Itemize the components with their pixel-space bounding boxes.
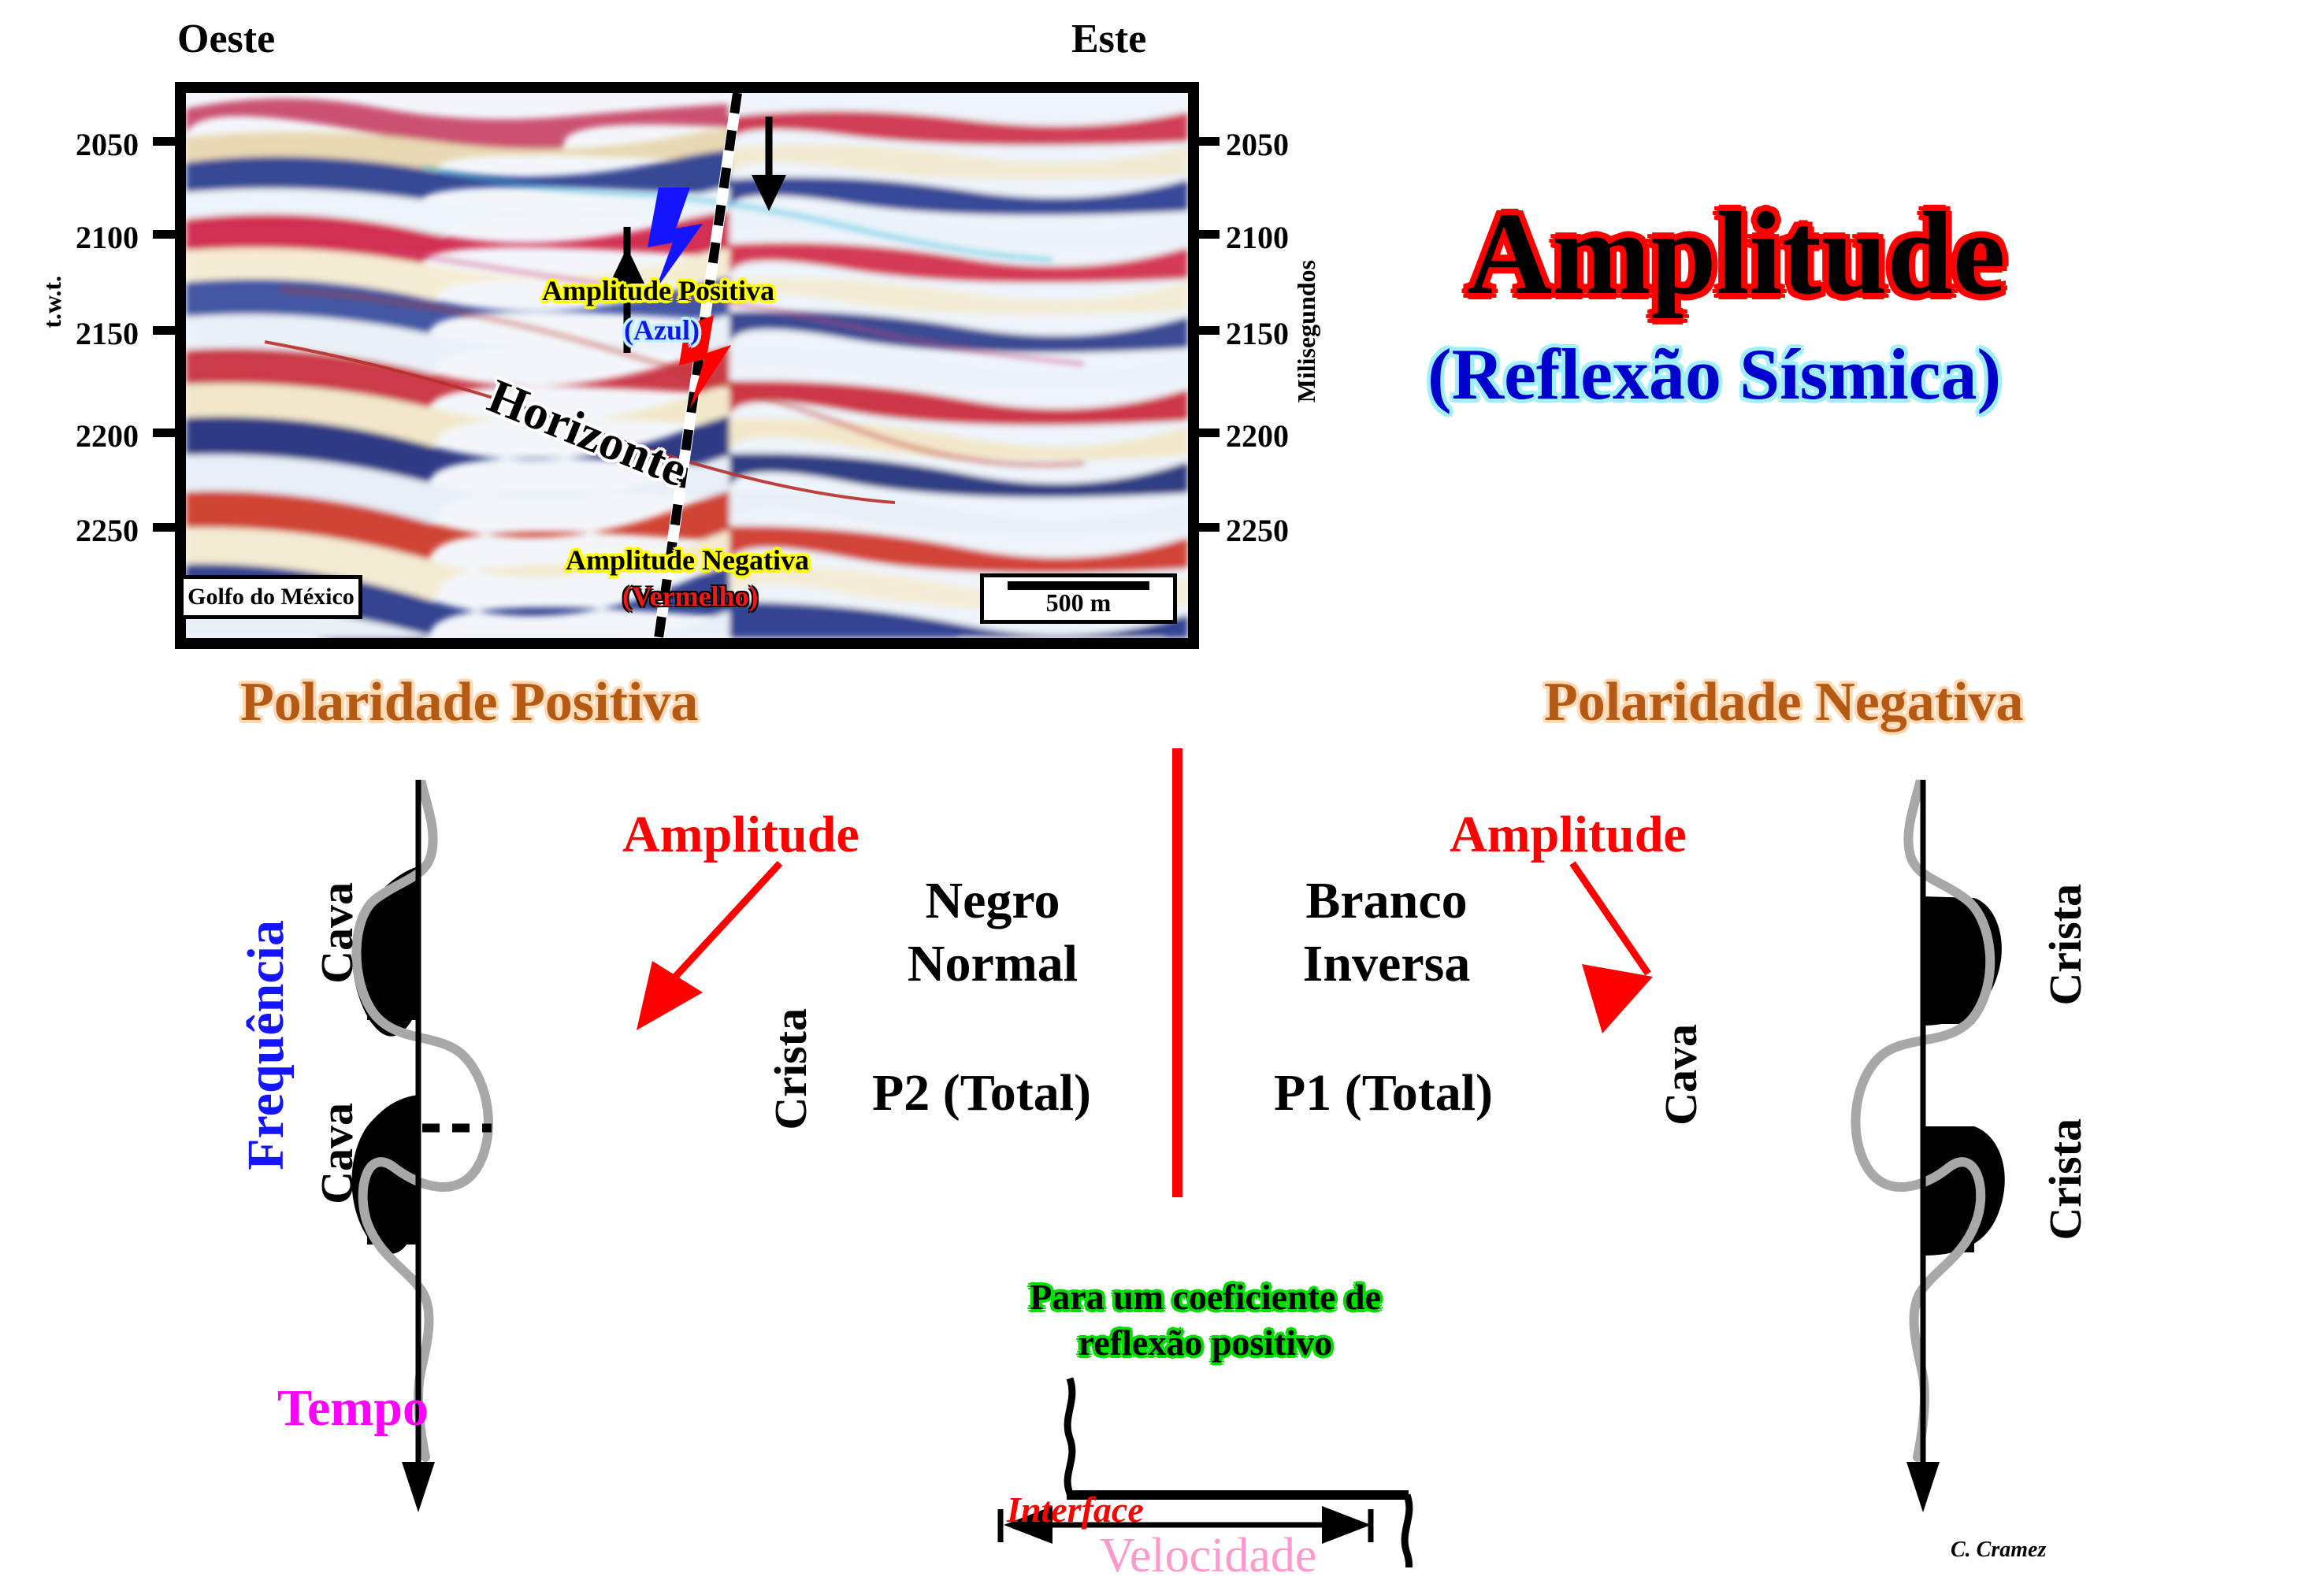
location-box: Golfo do México <box>180 575 362 619</box>
amplitude-arrow-left <box>567 851 804 1055</box>
tick-left-3: 2200 <box>76 417 139 454</box>
text-normal: Normal <box>867 934 1119 994</box>
annotation-positive-amplitude: Amplitude Positiva <box>542 274 774 307</box>
tick-right-4: 2250 <box>1226 512 1289 549</box>
note-line-2: reflexão positivo <box>953 1320 1457 1366</box>
text-negro: Negro <box>867 871 1119 931</box>
direction-label-east: Este <box>1071 16 1146 62</box>
tick-left-4: 2250 <box>76 512 139 549</box>
tick-right-2: 2150 <box>1226 315 1289 352</box>
label-velocity: Velocidade <box>1100 1528 1316 1584</box>
tick-left-1: 2100 <box>76 219 139 256</box>
label-trough-bottom-left: Cava <box>310 1103 363 1204</box>
panel-divider <box>1172 748 1182 1197</box>
page-title: Amplitude <box>1467 186 2005 321</box>
text-p2-total: P2 (Total) <box>848 1063 1116 1123</box>
label-crest-top-right: Crista <box>2039 884 2092 1006</box>
axis-label-milliseconds: Milisegundos <box>1292 260 1321 402</box>
label-trough-top-left: Cava <box>310 882 363 984</box>
label-crest-bottom-right: Crista <box>2039 1118 2092 1241</box>
annotation-negative-color: (Vermelho) <box>622 580 759 613</box>
scale-bar-label: 500 m <box>1046 588 1112 618</box>
amplitude-arrow-right <box>1418 851 1678 1071</box>
annotation-positive-color: (Azul) <box>624 313 700 347</box>
label-interface: Interface <box>1007 1489 1144 1530</box>
direction-label-west: Oeste <box>177 16 275 62</box>
heading-negative-polarity: Polaridade Negativa <box>1544 671 2024 734</box>
tick-left-2: 2150 <box>76 315 139 352</box>
heading-positive-polarity: Polaridade Positiva <box>240 671 698 734</box>
label-trough-right: Cava <box>1654 1024 1707 1126</box>
text-p1-total: P1 (Total) <box>1249 1063 1517 1123</box>
tick-right-3: 2200 <box>1226 417 1289 454</box>
label-time: Tempo <box>277 1378 429 1438</box>
axis-label-twt: t.w.t. <box>38 276 67 328</box>
tick-right-1: 2100 <box>1226 219 1289 256</box>
note-positive-reflection-coefficient: Para um coeficiente de reflexão positivo <box>953 1274 1457 1365</box>
note-line-1: Para um coeficiente de <box>953 1274 1457 1320</box>
annotation-negative-amplitude: Amplitude Negativa <box>566 543 809 577</box>
tick-left-0: 2050 <box>76 126 139 163</box>
label-frequency: Frequência <box>236 920 296 1170</box>
scale-bar-box: 500 m <box>980 573 1177 624</box>
author-signature: C. Cramez <box>1951 1538 2046 1563</box>
page-subtitle: (Reflexão Sísmica) <box>1427 332 2001 416</box>
tick-right-0: 2050 <box>1226 126 1289 163</box>
